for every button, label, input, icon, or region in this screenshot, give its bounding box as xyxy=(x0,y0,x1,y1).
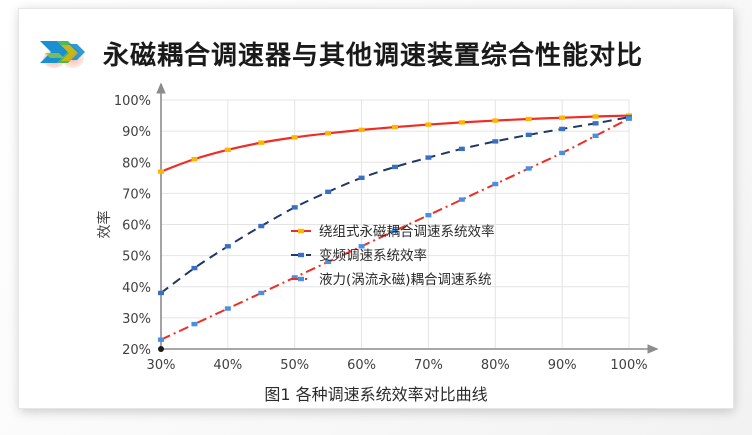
series-marker-0 xyxy=(593,114,599,118)
series-marker-2 xyxy=(459,197,465,201)
chart-svg: 20%30%40%50%60%70%80%90%100%30%40%50%60%… xyxy=(19,71,733,371)
y-axis-tick-label: 100% xyxy=(114,94,151,109)
series-marker-1 xyxy=(459,147,465,151)
series-marker-2 xyxy=(526,166,532,170)
legend-swatch-marker-2 xyxy=(298,277,304,281)
series-marker-1 xyxy=(392,165,398,169)
series-marker-2 xyxy=(626,116,632,120)
series-marker-1 xyxy=(325,190,331,194)
series-marker-1 xyxy=(492,139,498,143)
series-marker-0 xyxy=(258,140,264,144)
y-axis-tick-label: 20% xyxy=(122,343,151,358)
series-marker-0 xyxy=(158,169,164,173)
efficiency-comparison-chart: 20%30%40%50%60%70%80%90%100%30%40%50%60%… xyxy=(19,71,733,371)
double-chevron-logo-icon xyxy=(37,35,93,71)
series-marker-1 xyxy=(158,291,164,295)
series-line-0 xyxy=(161,116,629,172)
legend-label-1: 变频调速系统效率 xyxy=(319,247,427,264)
x-axis-tick-label: 40% xyxy=(213,358,242,371)
y-axis-tick-label: 60% xyxy=(122,219,151,234)
series-marker-0 xyxy=(325,131,331,135)
series-marker-1 xyxy=(593,121,599,125)
legend-label-2: 液力(涡流永磁)耦合调速系统 xyxy=(319,272,492,288)
x-axis-tick-label: 60% xyxy=(347,358,376,371)
series-marker-0 xyxy=(191,157,197,161)
series-marker-2 xyxy=(158,337,164,341)
series-marker-1 xyxy=(292,205,298,209)
series-marker-0 xyxy=(559,116,565,120)
page-title: 永磁耦合调速器与其他调速装置综合性能对比 xyxy=(103,35,643,72)
series-marker-2 xyxy=(425,213,431,217)
x-axis-tick-label: 30% xyxy=(147,358,176,371)
y-axis-title: 效率 xyxy=(96,211,113,239)
x-axis-tick-label: 100% xyxy=(610,358,647,371)
series-marker-1 xyxy=(191,266,197,270)
slide-title-bar: 永磁耦合调速器与其他调速装置综合性能对比 xyxy=(37,33,643,73)
series-marker-0 xyxy=(392,125,398,129)
legend-swatch-marker-0 xyxy=(298,229,304,233)
series-marker-2 xyxy=(225,306,231,310)
x-axis-tick-label: 70% xyxy=(414,358,443,371)
y-axis-tick-label: 70% xyxy=(122,187,151,202)
series-marker-0 xyxy=(459,120,465,124)
series-marker-0 xyxy=(526,117,532,121)
series-marker-2 xyxy=(258,291,264,295)
y-axis-tick-label: 40% xyxy=(122,281,151,296)
x-axis-tick-label: 50% xyxy=(280,358,309,371)
series-marker-2 xyxy=(191,322,197,326)
series-marker-1 xyxy=(258,224,264,228)
y-axis-tick-label: 50% xyxy=(122,250,151,265)
axis-origin-marker xyxy=(158,346,164,352)
x-axis-tick-label: 80% xyxy=(481,358,510,371)
series-marker-0 xyxy=(359,128,365,132)
legend-swatch-marker-1 xyxy=(298,253,304,257)
legend-label-0: 绕组式永磁耦合调速系统效率 xyxy=(319,223,495,240)
series-marker-1 xyxy=(225,244,231,248)
series-marker-0 xyxy=(292,135,298,139)
series-marker-0 xyxy=(425,122,431,126)
series-marker-1 xyxy=(359,176,365,180)
series-marker-1 xyxy=(425,155,431,159)
figure-caption: 图1 各种调速系统效率对比曲线 xyxy=(19,381,733,405)
series-marker-2 xyxy=(492,182,498,186)
series-line-1 xyxy=(161,117,629,293)
y-axis-tick-label: 90% xyxy=(122,125,151,140)
series-marker-0 xyxy=(492,118,498,122)
series-marker-2 xyxy=(559,151,565,155)
series-marker-0 xyxy=(225,148,231,152)
series-marker-1 xyxy=(526,133,532,137)
x-axis-tick-label: 90% xyxy=(548,358,577,371)
y-axis-tick-label: 80% xyxy=(122,156,151,171)
series-marker-2 xyxy=(593,134,599,138)
y-axis-tick-label: 30% xyxy=(122,312,151,327)
slide-card: 永磁耦合调速器与其他调速装置综合性能对比 20%30%40%50%60%70%8… xyxy=(18,8,734,409)
series-marker-1 xyxy=(559,127,565,131)
